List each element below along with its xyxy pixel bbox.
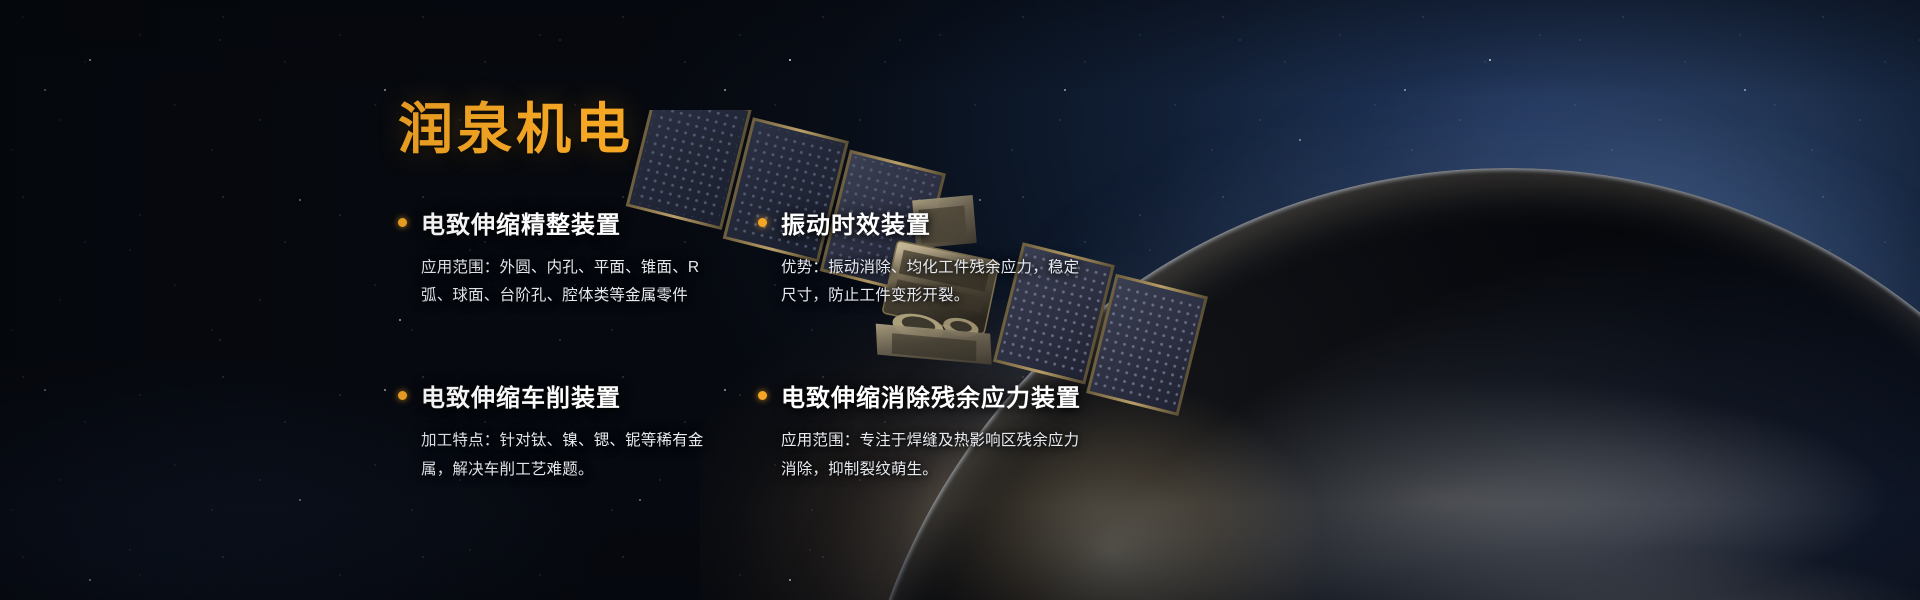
feature-title: 电致伸缩精整装置 (421, 205, 621, 240)
feature-head: 电致伸缩精整装置 (398, 205, 740, 240)
page-title: 润泉机电 (398, 84, 634, 164)
feature-item-electrostriction-turning[interactable]: 电致伸缩车削装置 加工特点：针对钛、镍、锶、铌等稀有金属，解决车削工艺难题。 (398, 378, 758, 483)
bullet-dot-icon (758, 218, 767, 227)
bullet-dot-icon (398, 218, 407, 227)
feature-head: 电致伸缩车削装置 (398, 378, 740, 413)
feature-head: 振动时效装置 (758, 205, 1100, 240)
feature-description: 加工特点：针对钛、镍、锶、铌等稀有金属，解决车削工艺难题。 (421, 427, 721, 483)
feature-item-vibration-aging[interactable]: 振动时效装置 优势：振动消除、均化工件残余应力，稳定尺寸，防止工件变形开裂。 (758, 205, 1118, 310)
feature-head: 电致伸缩消除残余应力装置 (758, 378, 1100, 413)
feature-item-residual-stress-relief[interactable]: 电致伸缩消除残余应力装置 应用范围：专注于焊缝及热影响区残余应力消除，抑制裂纹萌… (758, 378, 1118, 483)
bullet-dot-icon (398, 391, 407, 400)
feature-description: 应用范围：专注于焊缝及热影响区残余应力消除，抑制裂纹萌生。 (781, 427, 1081, 483)
feature-row-bottom: 电致伸缩车削装置 加工特点：针对钛、镍、锶、铌等稀有金属，解决车削工艺难题。 电… (398, 378, 1118, 483)
feature-description: 应用范围：外圆、内孔、平面、锥面、R弧、球面、台阶孔、腔体类等金属零件 (421, 254, 721, 310)
feature-title: 电致伸缩消除残余应力装置 (781, 378, 1081, 413)
feature-item-electrostriction-finishing[interactable]: 电致伸缩精整装置 应用范围：外圆、内孔、平面、锥面、R弧、球面、台阶孔、腔体类等… (398, 205, 758, 310)
feature-title: 振动时效装置 (781, 205, 931, 240)
feature-description: 优势：振动消除、均化工件残余应力，稳定尺寸，防止工件变形开裂。 (781, 254, 1081, 310)
bullet-dot-icon (758, 391, 767, 400)
feature-grid: 电致伸缩精整装置 应用范围：外圆、内孔、平面、锥面、R弧、球面、台阶孔、腔体类等… (398, 205, 1118, 484)
hero-banner: 润泉机电 电致伸缩精整装置 应用范围：外圆、内孔、平面、锥面、R弧、球面、台阶孔… (0, 0, 1920, 600)
feature-row-top: 电致伸缩精整装置 应用范围：外圆、内孔、平面、锥面、R弧、球面、台阶孔、腔体类等… (398, 205, 1118, 310)
banner-content: 润泉机电 电致伸缩精整装置 应用范围：外圆、内孔、平面、锥面、R弧、球面、台阶孔… (0, 0, 1920, 600)
feature-title: 电致伸缩车削装置 (421, 378, 621, 413)
